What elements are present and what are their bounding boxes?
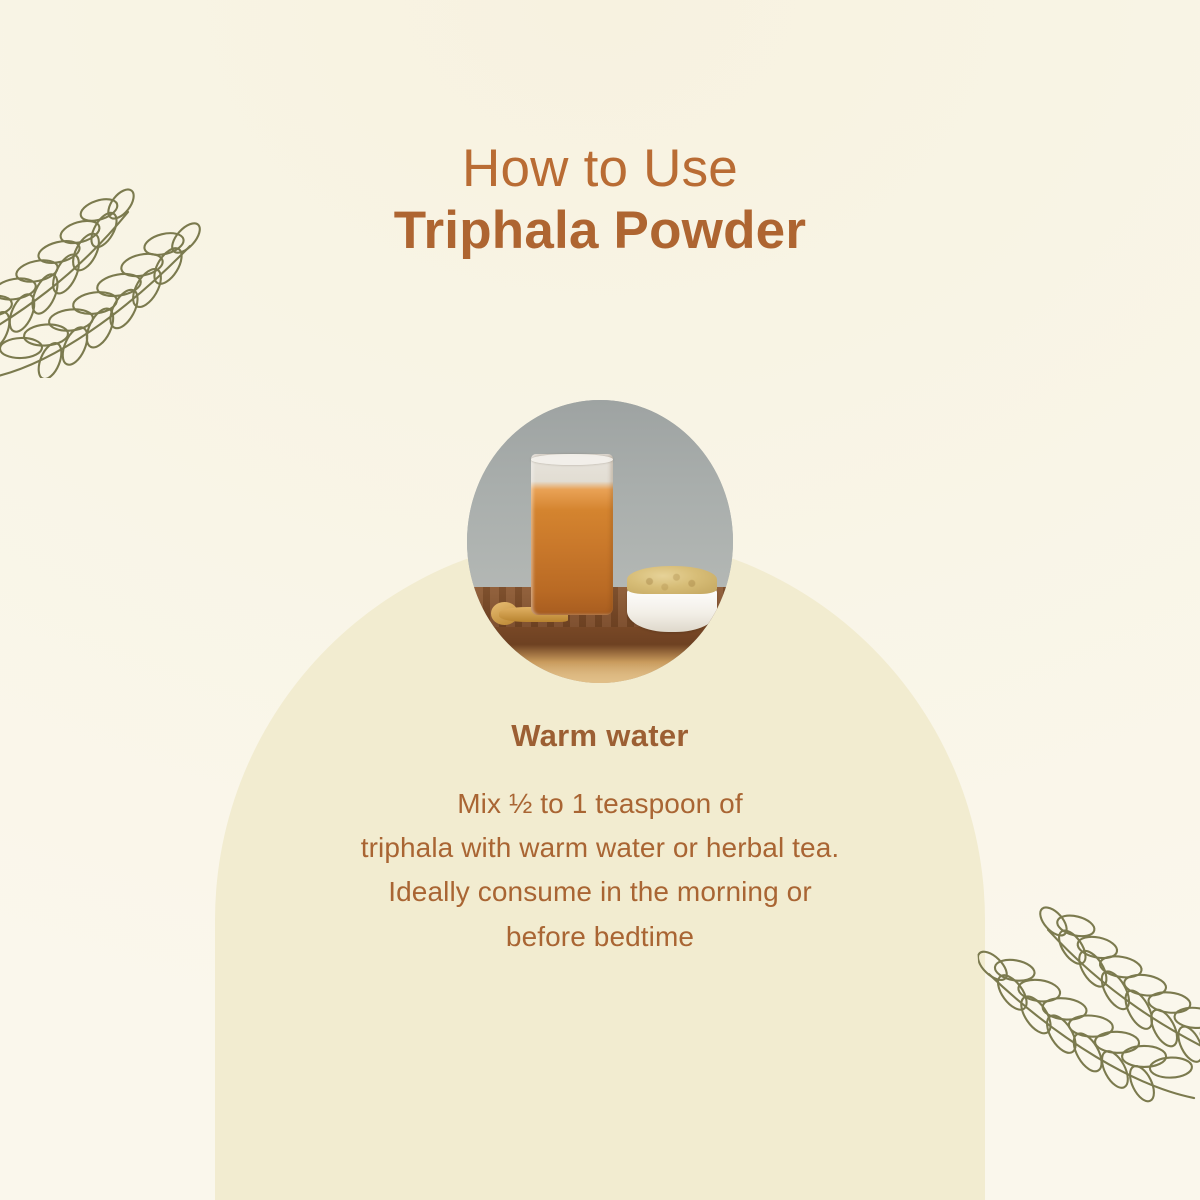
- title-line-2: Triphala Powder: [0, 198, 1200, 264]
- caption-body-line: Ideally consume in the morning or: [0, 870, 1200, 914]
- product-photo: [467, 400, 733, 683]
- drink-glass: [531, 454, 613, 615]
- page-title: How to Use Triphala Powder: [0, 140, 1200, 265]
- triphala-powder: [627, 566, 717, 594]
- caption-block: Warm water Mix ½ to 1 teaspoon of tripha…: [0, 718, 1200, 959]
- infographic-card: How to Use Triphala Powder Warm water Mi…: [0, 0, 1200, 1200]
- caption-body: Mix ½ to 1 teaspoon of triphala with war…: [0, 782, 1200, 959]
- glass-rim: [531, 454, 613, 465]
- caption-heading: Warm water: [0, 718, 1200, 754]
- caption-body-line: Mix ½ to 1 teaspoon of: [0, 782, 1200, 826]
- title-line-1: How to Use: [0, 140, 1200, 198]
- caption-body-line: triphala with warm water or herbal tea.: [0, 826, 1200, 870]
- caption-body-line: before bedtime: [0, 915, 1200, 959]
